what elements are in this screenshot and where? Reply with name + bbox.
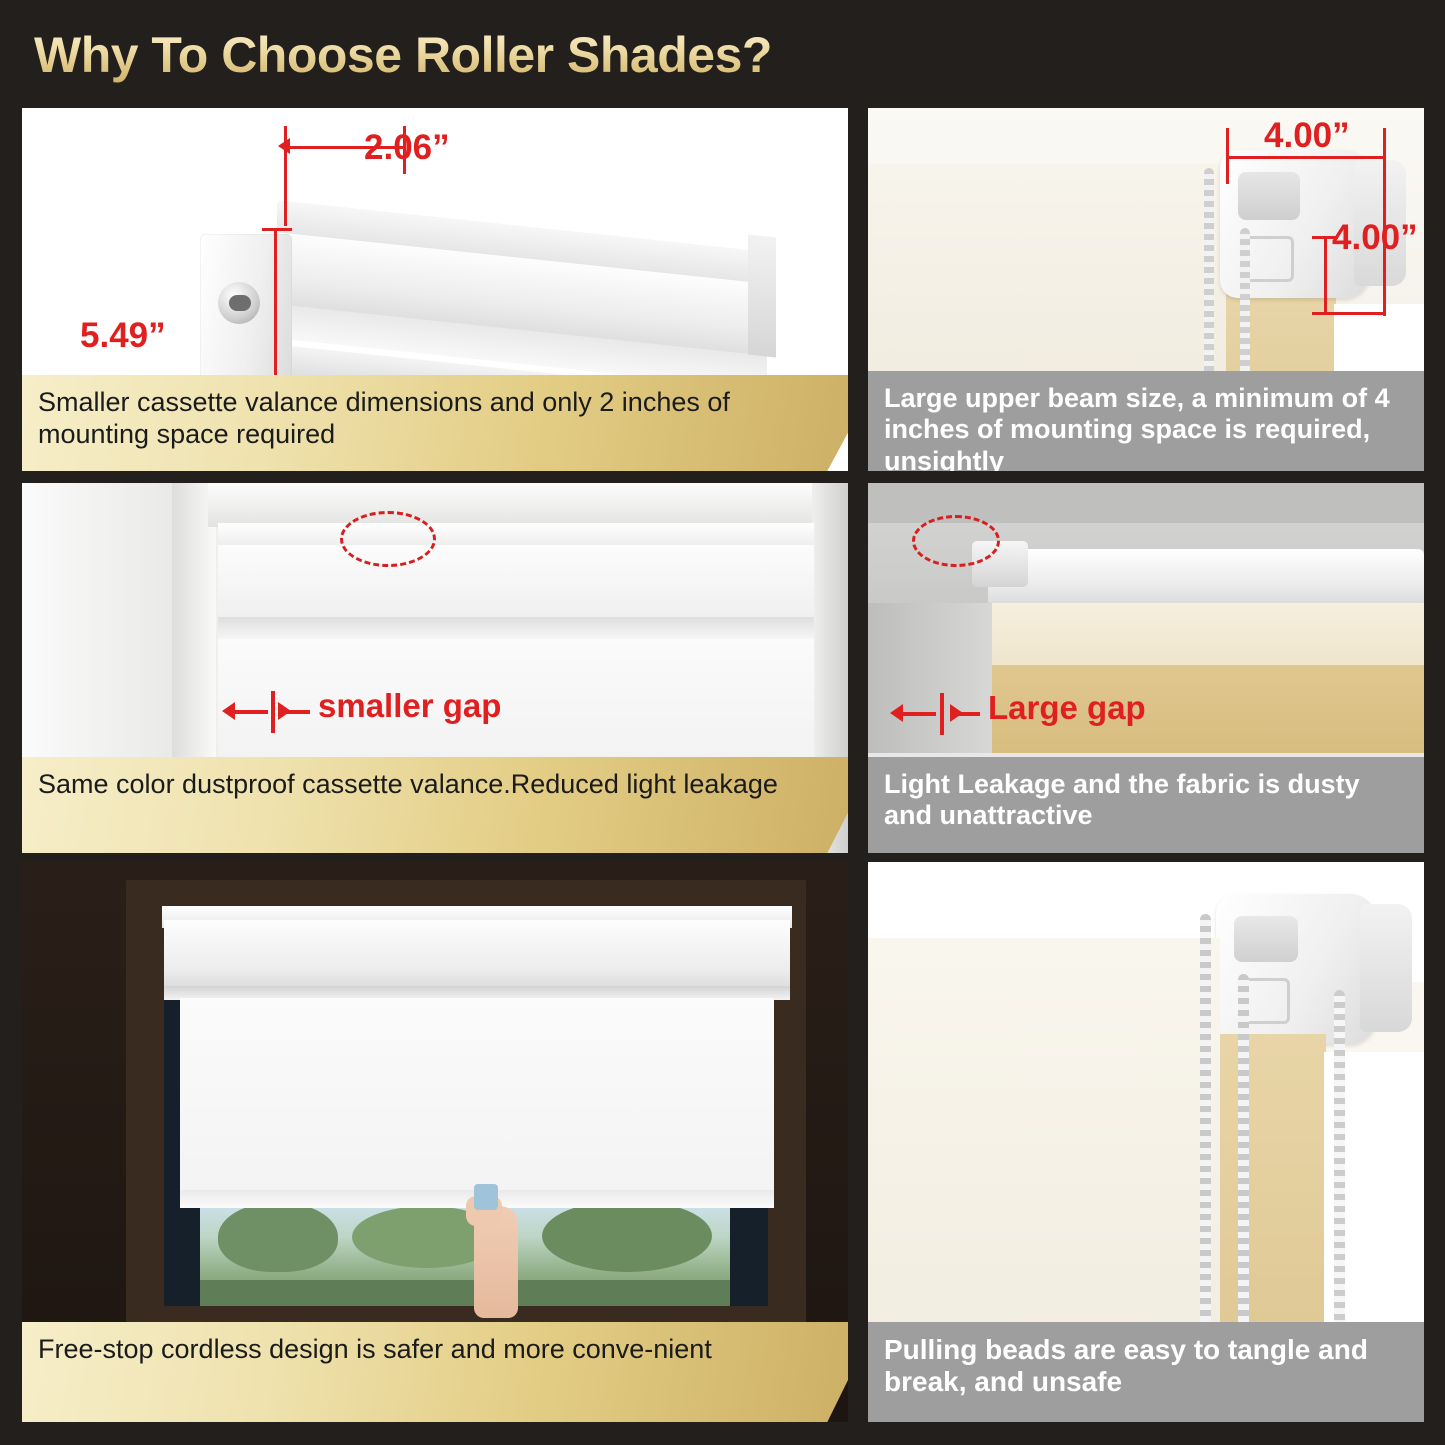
shade-fabric [180,998,774,1198]
cassette-valance-face [218,545,814,623]
gap-highlight-ellipse [340,511,436,567]
beam-width-line [1226,156,1386,159]
valance-right-end [748,235,776,358]
left-wall-shadow [868,603,992,753]
beam-depth-label: 4.00” [1332,218,1418,258]
valance-bottom-edge [218,617,814,639]
lawn [200,1280,730,1306]
bracket-slot [1234,916,1298,962]
poster-root: Why To Choose Roller Shades? [0,0,1445,1445]
panel-large-beam: 4.00” 4.00” Large upper beam size, a min… [868,108,1424,471]
panel-smaller-gap: smaller gap Same color dustproof cassett… [22,483,848,853]
dim-height-tick-top [262,228,292,231]
roller-tube [988,549,1424,607]
caption-large-beam: Large upper beam size, a minimum of 4 in… [868,371,1424,471]
cassette-valance [164,920,790,990]
panel-cassette-dimensions: 2.06” 5.49” Smaller cassette valance dim… [22,108,848,471]
caption-pulling-beads: Pulling beads are easy to tangle and bre… [868,1322,1424,1422]
dim-width-arrow-left [278,138,290,154]
gap-mark-bar [271,691,275,733]
caption-cassette-dimensions: Smaller cassette valance dimensions and … [22,375,848,471]
large-gap-label: Large gap [988,689,1146,727]
dim-height-label: 5.49” [80,316,166,356]
fabric-upper [988,603,1424,669]
smaller-gap-label: smaller gap [318,687,501,725]
pull-tab [474,1184,498,1210]
window-frame-top [208,483,848,527]
tree-right [542,1200,712,1272]
panel-pulling-beads: Pulling beads are easy to tangle and bre… [868,862,1424,1422]
beam-depth-line [1324,236,1327,314]
gap-mark-bar [940,693,944,735]
beam-depth-tick-bottom [1312,312,1386,315]
beam-width-label: 4.00” [1264,116,1350,156]
gap-highlight-ellipse [912,515,1000,567]
caption-large-gap: Light Leakage and the fabric is dusty an… [868,757,1424,853]
end-cap-bracket-hole [218,282,260,324]
gap-arrow-left-head [890,704,903,722]
panel-large-gap: Large gap Light Leakage and the fabric i… [868,483,1424,853]
page-title: Why To Choose Roller Shades? [34,20,1414,90]
roller-end-plate [1360,904,1412,1032]
caption-smaller-gap: Same color dustproof cassette valance.Re… [22,757,848,853]
bracket-slot [1238,172,1300,220]
tree-left [218,1202,338,1272]
beam-width-tick-left [1226,128,1229,184]
gap-arrow-left-head [222,702,235,720]
shade-fabric [218,639,814,765]
panel-cordless-design: Free-stop cordless design is safer and m… [22,862,848,1422]
bracket-clip [1244,236,1294,282]
gap-arrow-right-head [278,702,291,720]
gap-arrow-right-head [950,704,963,722]
dim-width-label: 2.06” [364,128,450,168]
caption-cordless-design: Free-stop cordless design is safer and m… [22,1322,848,1422]
